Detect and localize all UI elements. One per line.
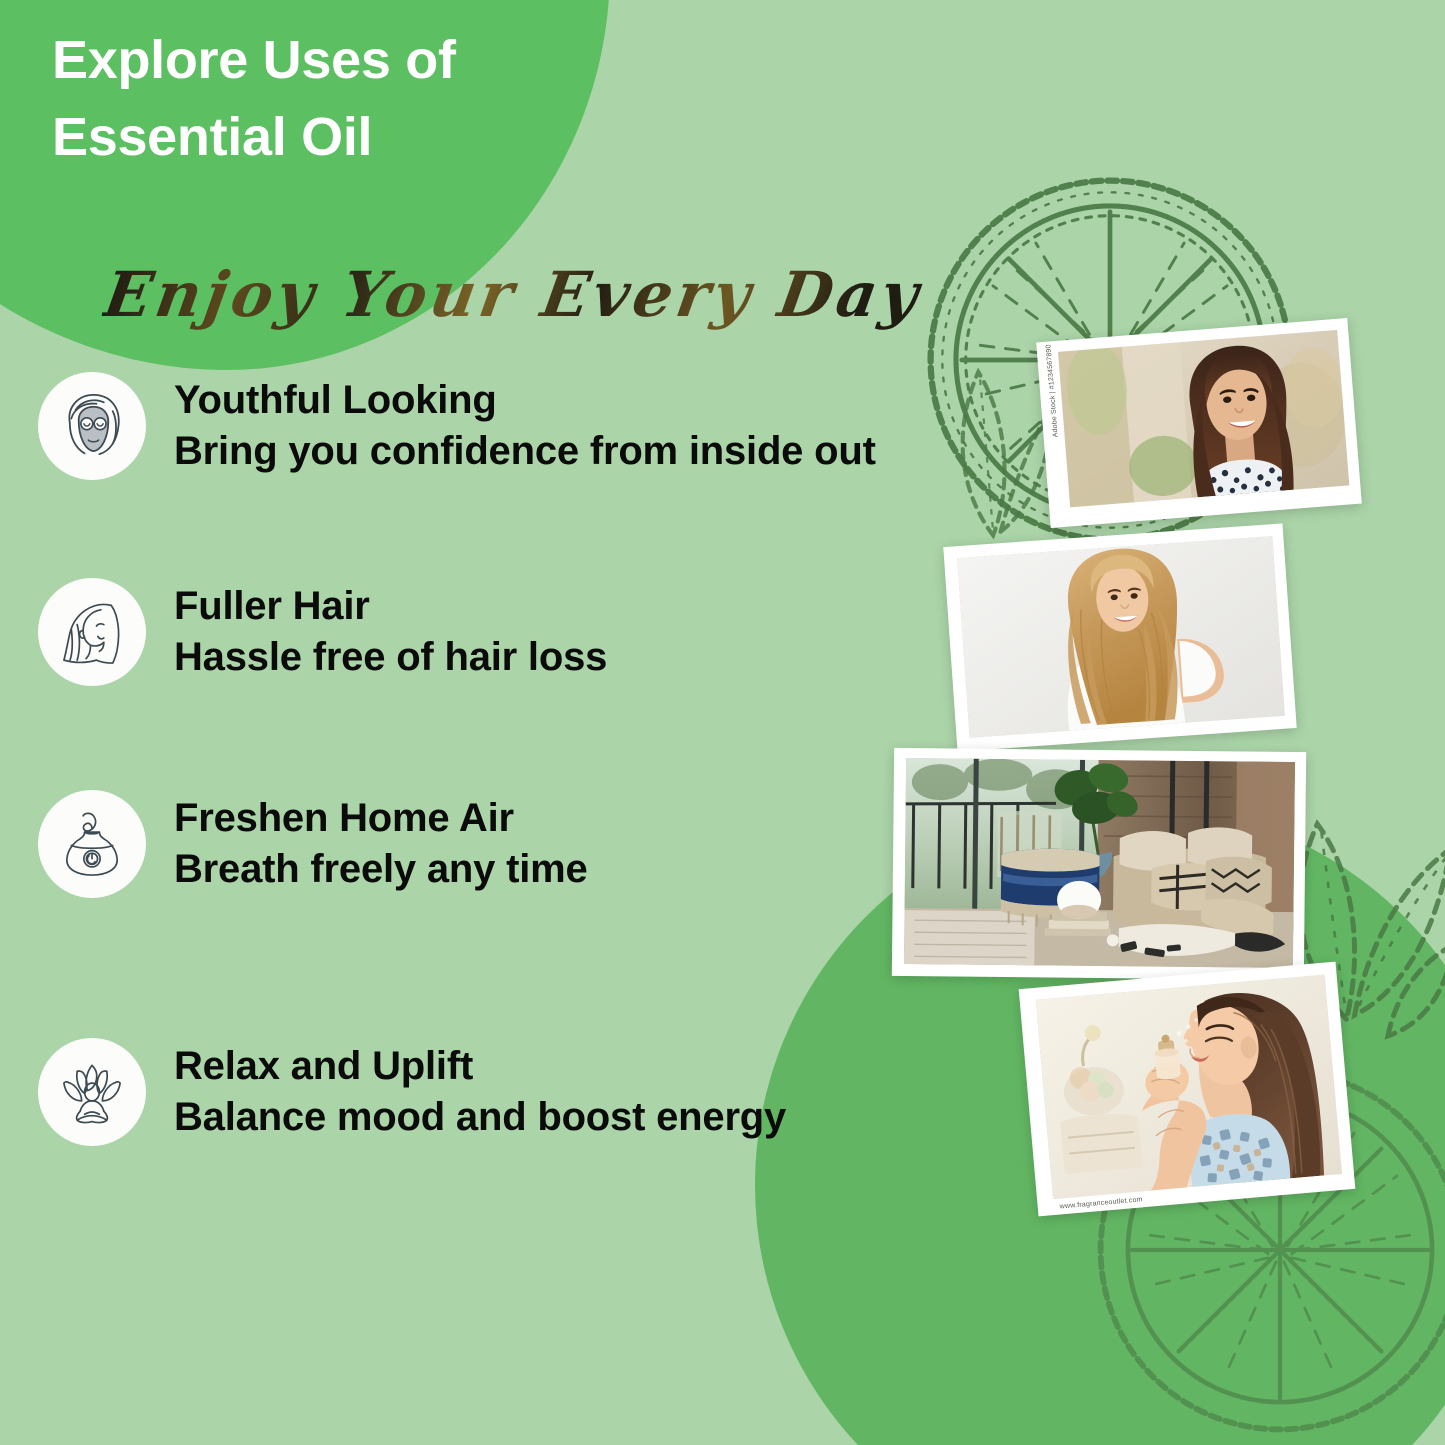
feature-text-block: Relax and Uplift Balance mood and boost … [174,1043,786,1141]
feature-item-relax-and-uplift: Relax and Uplift Balance mood and boost … [38,1038,786,1146]
feature-subtitle: Hassle free of hair loss [174,634,607,681]
photo-image [904,758,1295,968]
photo-image [1036,975,1342,1200]
feature-item-youthful-looking: Youthful Looking Bring you confidence fr… [38,372,876,480]
photo-image [957,536,1285,738]
photo-living-room [892,748,1306,980]
feature-item-freshen-home-air: Freshen Home Air Breath freely any time [38,790,588,898]
feature-item-fuller-hair: Fuller Hair Hassle free of hair loss [38,578,607,686]
feature-subtitle: Breath freely any time [174,846,588,893]
face-mask-icon [55,389,129,463]
oil-diffuser-icon-container [38,790,146,898]
photo-woman-perfume: www.fragranceoutlet.com [1019,962,1356,1217]
lotus-meditation-icon-container [38,1038,146,1146]
feature-text-block: Freshen Home Air Breath freely any time [174,795,588,893]
long-hair-profile-icon-container [38,578,146,686]
long-hair-profile-icon [55,595,129,669]
feature-subtitle: Balance mood and boost energy [174,1094,786,1141]
photo-woman-hair [943,523,1296,751]
photo-woman-hair-illustration [957,536,1285,738]
feature-title: Relax and Uplift [174,1043,786,1090]
feature-title: Fuller Hair [174,583,607,630]
photo-woman-smiling-illustration [1058,330,1349,507]
photo-credit: www.fragranceoutlet.com [1059,1196,1142,1210]
feature-title: Youthful Looking [174,377,876,424]
feature-subtitle: Bring you confidence from inside out [174,428,876,475]
photo-living-room-illustration [904,758,1295,968]
photo-image [1058,330,1349,507]
feature-title: Freshen Home Air [174,795,588,842]
infographic-canvas: Explore Uses of Essential Oil Enjoy Your… [0,0,1445,1445]
tagline: Enjoy Your Every Day [99,258,927,331]
face-mask-icon-container [38,372,146,480]
feature-text-block: Youthful Looking Bring you confidence fr… [174,377,876,475]
lotus-meditation-icon [55,1055,129,1129]
photo-woman-perfume-illustration [1036,975,1342,1200]
page-title: Explore Uses of Essential Oil [52,22,456,175]
oil-diffuser-icon [55,807,129,881]
photo-woman-smiling: Adobe Stock | #1234567890 [1036,318,1362,528]
feature-text-block: Fuller Hair Hassle free of hair loss [174,583,607,681]
